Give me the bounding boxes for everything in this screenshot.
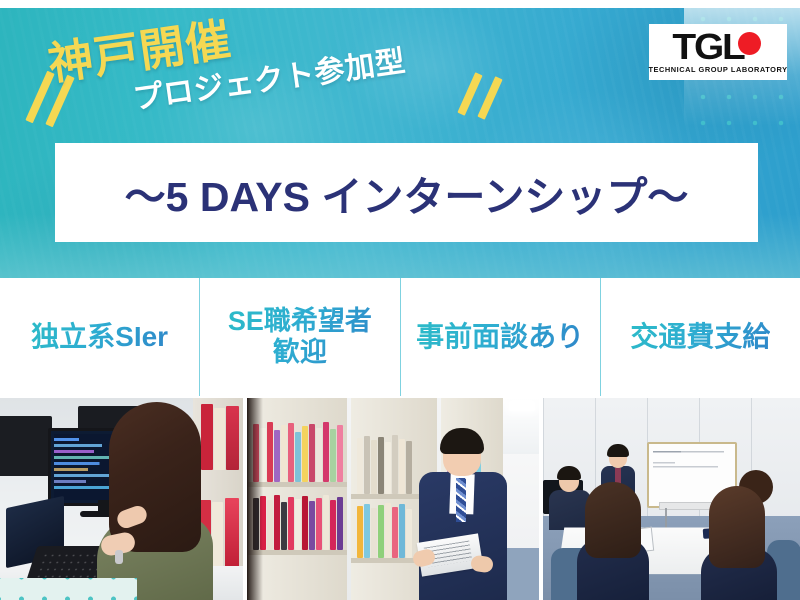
photo-meeting-room xyxy=(543,398,800,600)
feature-cell-2: SE職希望者 歓迎 xyxy=(200,278,400,396)
bottom-dot-strip xyxy=(0,578,137,600)
tgl-logo-mark: TGL xyxy=(675,31,761,63)
feature-row: 独立系SIer SE職希望者 歓迎 事前面談あり 交通費支給 xyxy=(0,278,800,396)
feature-label-1: 独立系SIer xyxy=(31,321,168,353)
page-title: 〜5 DAYS インターンシップ〜 xyxy=(125,163,689,223)
tgl-logo-letters: TGL xyxy=(672,31,743,63)
tgl-logo: TGL TECHNICAL GROUP LABORATORY xyxy=(649,24,787,80)
feature-label-3: 事前面談あり xyxy=(416,321,584,353)
feature-label-2-line-1: SE職希望者 xyxy=(228,306,372,336)
feature-cell-4: 交通費支給 xyxy=(601,278,800,396)
feature-cell-3: 事前面談あり xyxy=(401,278,601,396)
photo-man-reading-bookshelf xyxy=(247,398,539,600)
feature-label-2-line-2: 歓迎 xyxy=(273,337,327,367)
title-box: 〜5 DAYS インターンシップ〜 xyxy=(55,143,758,242)
feature-label-2: SE職希望者 歓迎 xyxy=(228,306,372,369)
feature-label-4: 交通費支給 xyxy=(630,321,770,353)
internship-poster: 神戸開催 プロジェクト参加型 TGL TECHNICAL GROUP LABOR… xyxy=(0,0,800,600)
photo-engineer-at-desk xyxy=(0,398,243,600)
photo-strip xyxy=(0,398,800,600)
feature-cell-1: 独立系SIer xyxy=(0,278,200,396)
